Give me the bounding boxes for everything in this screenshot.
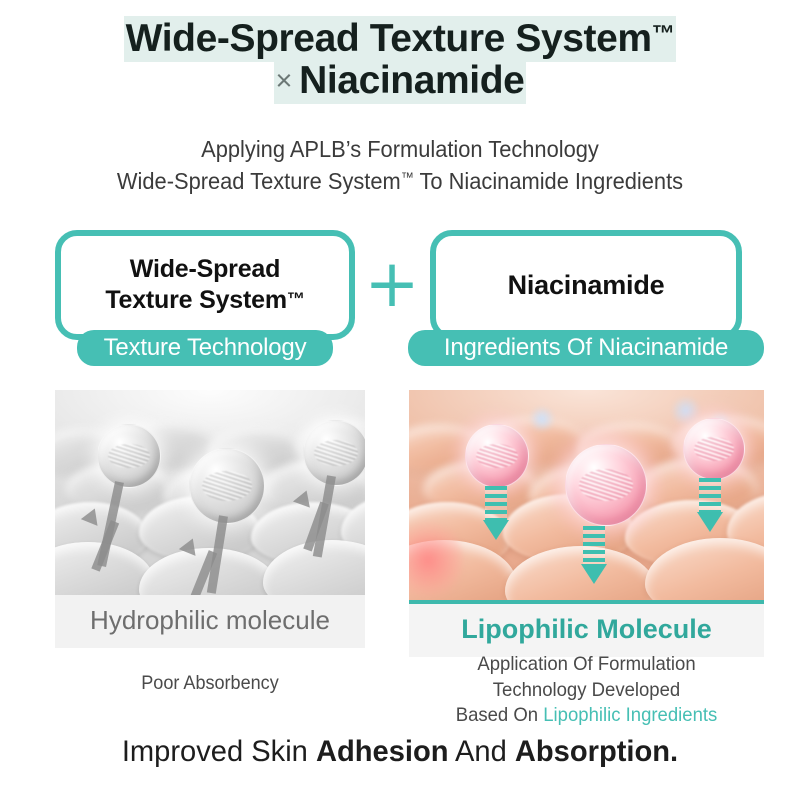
card-niacinamide: Niacinamide [430,230,742,340]
note-line-3-accent: Lipophilic Ingredients [543,704,717,726]
panel-lipophilic: Lipophilic Molecule [409,390,764,657]
card-texture-system-title: Wide-Spread Texture System™ [105,254,304,317]
caption-hydrophilic: Hydrophilic molecule [55,595,365,648]
footer-part-1: Improved Skin [122,735,316,768]
arrow-absorb [581,526,607,584]
panel-hydrophilic: Hydrophilic molecule [55,390,365,648]
molecule-core [476,444,518,469]
card-texture-system: Wide-Spread Texture System™ [55,230,355,340]
arrow-head-icon [483,520,509,540]
molecule-sphere [683,418,745,480]
footer-bold-adhesion: Adhesion [316,735,449,768]
footer-part-2: And [449,735,515,768]
molecule-sphere [565,444,647,526]
note-line-1: Application Of Formulation [477,653,695,675]
plus-icon: + [364,258,420,314]
arrow-absorb [697,478,723,532]
badge-ingredients-of-niacinamide-label: Ingredients Of Niacinamide [444,334,728,362]
badge-texture-technology-label: Texture Technology [104,334,307,362]
badge-texture-technology: Texture Technology [77,330,333,366]
lipophilic-illustration [409,390,764,600]
arrow-head-icon [697,512,723,532]
arrow-absorb [483,486,509,540]
blue-spark-icon [529,406,555,432]
note-formulation-technology: Application Of Formulation Technology De… [418,652,755,729]
molecule-sphere [97,424,161,488]
note-line-2: Technology Developed [493,679,680,701]
molecule-sphere [465,424,529,488]
molecule-core [694,437,735,461]
caption-lipophilic: Lipophilic Molecule [409,604,764,657]
molecule-core [314,440,358,466]
badge-ingredients-of-niacinamide: Ingredients Of Niacinamide [408,330,764,366]
hydrophilic-illustration [55,390,365,595]
note-poor-absorbency: Poor Absorbency [63,673,358,695]
card-niacinamide-title: Niacinamide [508,268,665,302]
molecule-core [202,471,252,501]
molecule-sphere [189,448,265,524]
infographic-page: Wide-Spread Texture System™ ×Niacinamide… [0,0,800,800]
molecule-core [108,444,150,469]
card-trademark-symbol: ™ [287,289,305,309]
arrow-shaft [699,478,721,512]
arrow-shaft [583,526,605,564]
arrow-head-icon [581,564,607,584]
footer-bold-absorption: Absorption. [515,735,678,768]
arrow-shaft [485,486,507,520]
footer-statement: Improved Skin Adhesion And Absorption. [12,735,788,769]
molecule-core [579,469,633,501]
note-line-3-prefix: Based On [456,704,544,726]
